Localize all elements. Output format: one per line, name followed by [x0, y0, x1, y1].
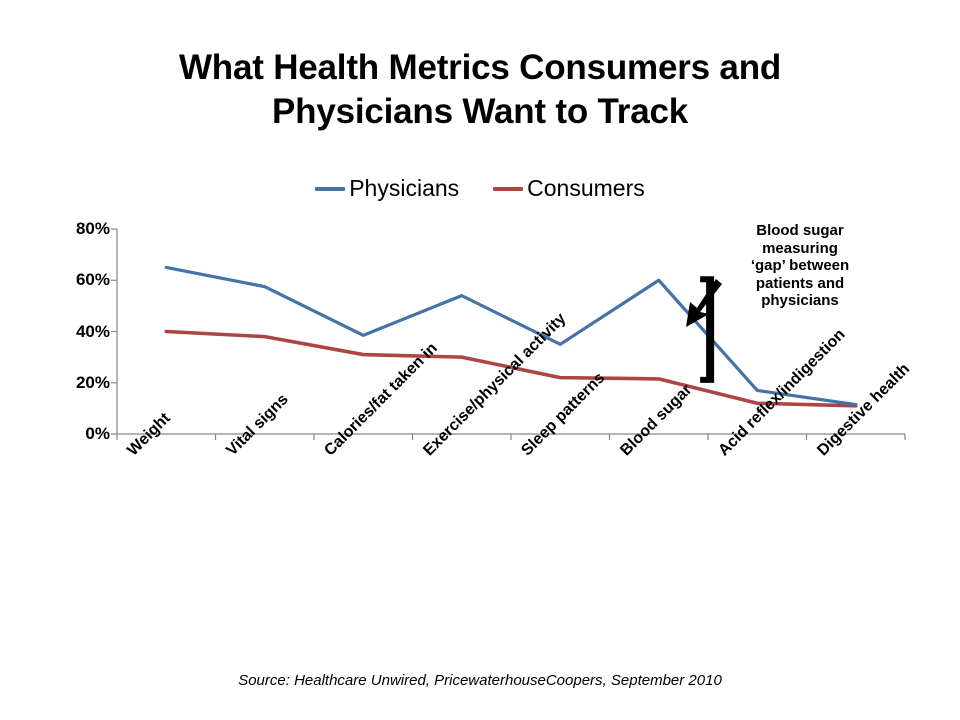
x-axis-tick-label: Digestive health: [815, 361, 913, 459]
gap-annotation-line-4: patients and: [700, 275, 900, 293]
gap-annotation-line-5: physicians: [700, 292, 900, 310]
gap-annotation-line-3: ‘gap’ between: [700, 257, 900, 275]
gap-annotation-line-2: measuring: [700, 240, 900, 258]
gap-annotation-line-1: Blood sugar: [700, 222, 900, 240]
source-note: Source: Healthcare Unwired, Pricewaterho…: [0, 672, 960, 690]
x-axis-tick-label: Vital signs: [224, 392, 292, 460]
gap-annotation-text: Blood sugar measuring ‘gap’ between pati…: [700, 222, 900, 310]
x-axis-tick-label: Weight: [125, 411, 174, 460]
x-axis-tick-label: Blood sugar: [618, 382, 695, 459]
x-axis-tick-label: Sleep patterns: [519, 370, 608, 459]
x-axis-tick-label: Calories/fat taken in: [322, 340, 441, 459]
chart-slide: What Health Metrics Consumers and Physic…: [0, 0, 960, 720]
x-axis-labels: WeightVital signsCalories/fat taken inEx…: [0, 0, 960, 720]
